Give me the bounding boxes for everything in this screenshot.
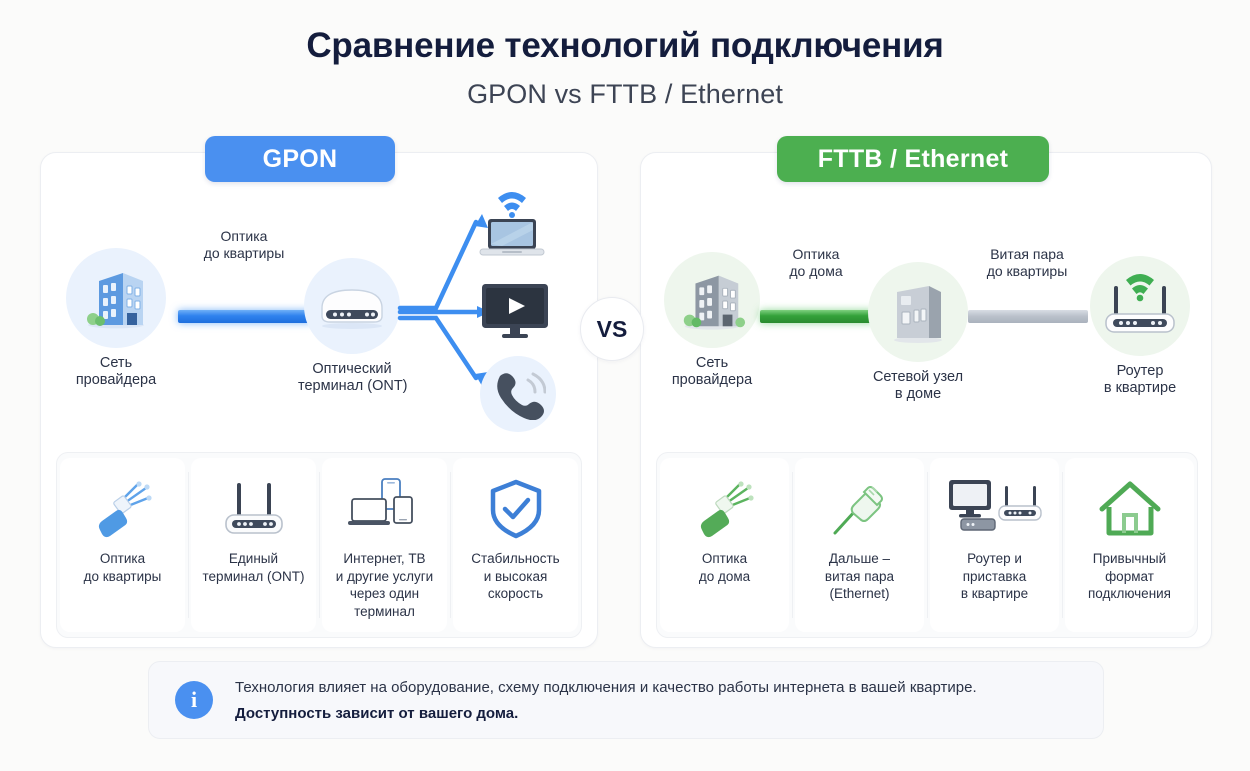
ethernet-plug-icon [829,472,891,546]
gpon-card-stability[interactable]: Стабильностьи высокая скорость [453,458,578,632]
gpon-node-label: Сеть провайдера [62,355,170,389]
fttb-card-text: Привычныйформат подключения [1084,550,1175,603]
gpon-node-provider-network: Сеть провайдера [62,248,170,389]
gpon-card-text: Оптикадо квартиры [80,550,166,585]
gpon-card-text: Стабильностьи высокая скорость [467,550,563,603]
wifi-router-icon-svg [1098,270,1182,342]
laptop-wifi-icon [462,186,562,260]
gpon-card-text: Интернет, ТВи другие услуги через одинте… [332,550,437,620]
gpon-endpoint-phone [480,356,556,432]
gpon-card-services[interactable]: Интернет, ТВи другие услуги через одинте… [322,458,447,632]
fttb-card-text: Дальше –витая пара (Ethernet) [821,550,898,603]
modem-icon [304,258,400,354]
shield-check-icon [487,472,545,546]
fiber-cable-icon [92,472,154,546]
gpon-card-fiber[interactable]: Оптикадо квартиры [60,458,185,632]
office-building-icon [66,248,166,348]
footer-note-line1: Технология влияет на оборудование, схему… [235,677,977,698]
phone-handset-icon-svg [490,368,546,420]
modem-icon-svg [314,280,390,332]
footer-note-line2: Доступность зависит от вашего дома. [235,703,977,724]
fiber-wire-green [760,310,874,323]
fttb-link-caption: Оптика до дома [760,246,872,280]
fttb-node-label: Сеть провайдера [660,355,764,389]
phone-handset-icon [480,356,556,432]
server-cabinet-icon-svg [887,278,949,346]
footer-note: i Технология влияет на оборудование, схе… [148,661,1104,739]
gpon-feature-cards: Оптикадо квартиры Единыйтерминал (ONT) [56,452,582,638]
twisted-pair-wire [968,310,1088,323]
office-building-icon [664,252,760,348]
gpon-node-optical-terminal: Оптический терминал (ONT) [298,258,406,395]
tv-play-icon [478,280,552,342]
tv-and-router-icon [947,472,1043,546]
router-icon [218,472,290,546]
fttb-card-home[interactable]: Привычныйформат подключения [1065,458,1194,632]
fttb-node-apartment-router: Роутер в квартире [1088,256,1192,397]
wifi-icon [498,192,526,218]
infographic-page: Сравнение технологий подключения GPON vs… [0,0,1250,771]
gpon-card-text: Единыйтерминал (ONT) [199,550,309,585]
fttb-card-twisted-pair[interactable]: Дальше –витая пара (Ethernet) [795,458,924,632]
wifi-icon [1126,274,1154,301]
gpon-node-label: Оптический терминал (ONT) [298,361,406,395]
gpon-badge: GPON [205,136,395,182]
footer-note-text: Технология влияет на оборудование, схему… [235,677,977,724]
fttb-badge: FTTB / Ethernet [777,136,1049,182]
vs-divider: VS [580,297,644,361]
fttb-node-label: Роутер в квартире [1088,363,1192,397]
fttb-link-caption: Витая пара до квартиры [968,246,1086,280]
server-cabinet-icon [868,262,968,362]
page-subtitle: GPON vs FTTB / Ethernet [0,79,1250,110]
page-title: Сравнение технологий подключения [0,26,1250,66]
office-building-icon-svg [79,261,153,335]
fttb-node-label: Сетевой узел в доме [866,369,970,403]
gpon-card-terminal[interactable]: Единыйтерминал (ONT) [191,458,316,632]
fttb-node-provider-network: Сеть провайдера [660,252,764,389]
home-icon [1098,472,1162,546]
gpon-link-caption: Оптика до квартиры [178,228,310,262]
wifi-router-icon [1090,256,1190,356]
office-building-icon-svg [676,264,748,336]
fiber-cable-icon [694,472,756,546]
fttb-card-text: Оптикадо дома [695,550,754,585]
devices-icon [346,472,424,546]
fttb-feature-cards: Оптикадо дома Дальше –витая пара (E [656,452,1198,638]
fttb-card-fiber[interactable]: Оптикадо дома [660,458,789,632]
fttb-node-network-node: Сетевой узел в доме [866,262,970,403]
fiber-wire-blue [178,310,312,323]
gpon-endpoint-laptop [462,186,562,265]
fttb-card-text: Роутер иприставка в квартире [957,550,1032,603]
gpon-endpoint-tv [478,280,552,347]
fttb-card-devices[interactable]: Роутер иприставка в квартире [930,458,1059,632]
info-icon: i [175,681,213,719]
